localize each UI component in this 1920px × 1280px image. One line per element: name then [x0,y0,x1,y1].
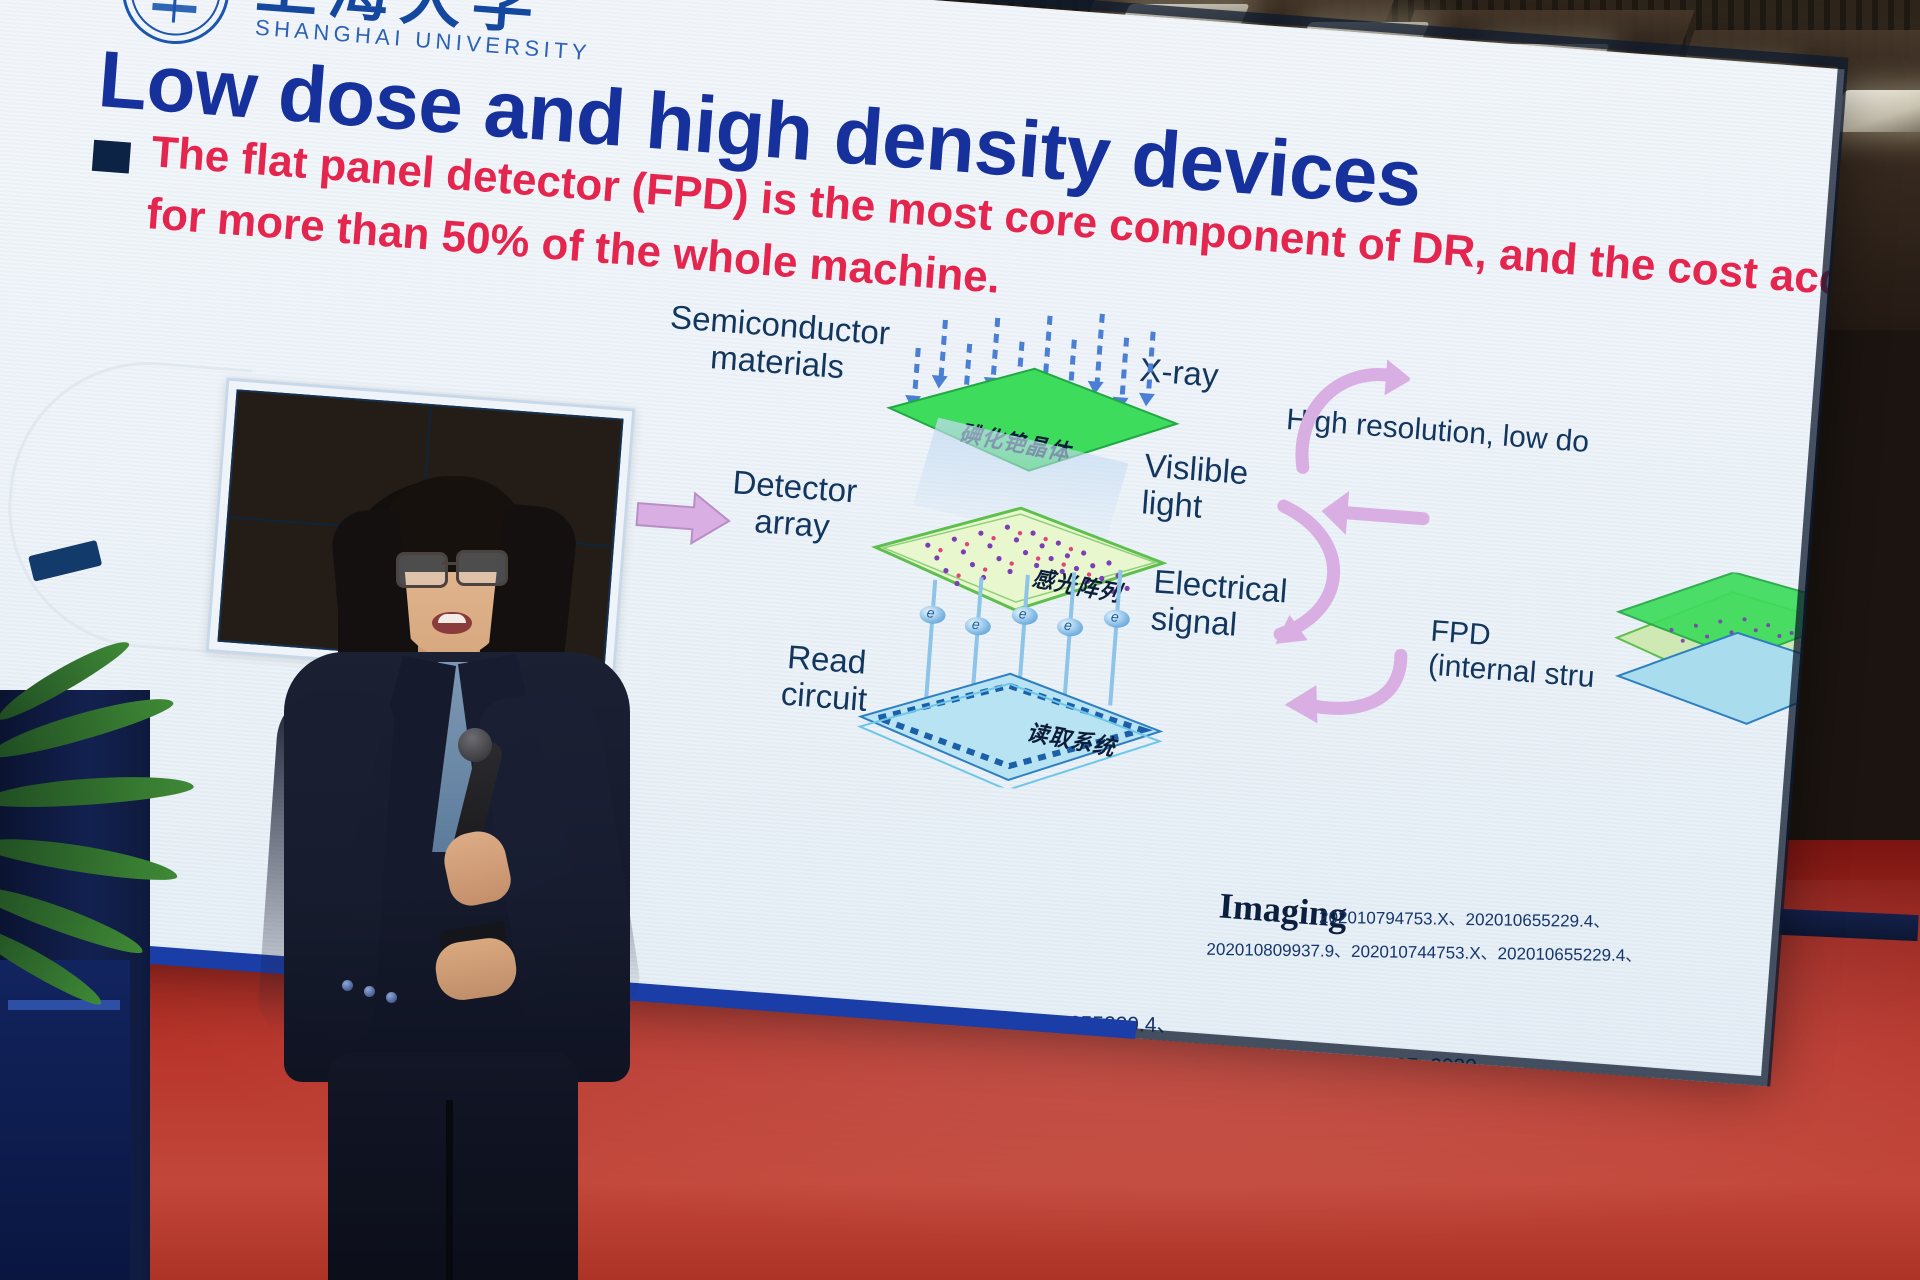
eyeglasses-left-lens [396,552,448,588]
photo-scene: 上海大学 SHANGHAI UNIVERSITY Low dose and hi… [0,0,1920,1280]
eyeglasses-right-lens [456,550,508,586]
blazer-button-row [342,980,472,1000]
presenter [250,440,670,1280]
trousers [328,1052,578,1280]
eyeglasses-bridge [442,562,458,565]
trouser-seam [446,1100,453,1280]
mouth [432,612,472,634]
potted-plant [0,700,240,1030]
